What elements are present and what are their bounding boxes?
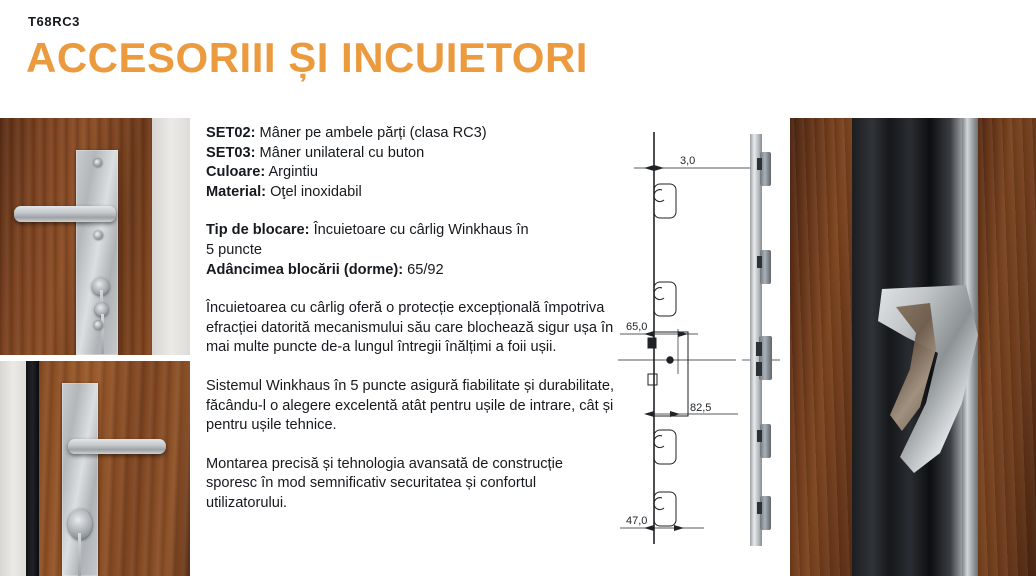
spec-value: Argintiu [268, 164, 317, 180]
door-lever-handle [14, 206, 116, 222]
left-photo-column [0, 118, 190, 576]
spec-value: Încuietoare cu cârlig Winkhaus în [314, 222, 529, 238]
spec-value: Mâner pe ambele părți (clasa RC3) [260, 125, 487, 141]
spec-label: Tip de blocare: [206, 222, 310, 238]
latch-bolt [648, 338, 656, 348]
wall-strip [0, 361, 26, 576]
spec-label: SET02: [206, 125, 255, 141]
lock-schematic-svg: 3,0 65,0 82,5 47,0 [618, 124, 790, 576]
spec-value: 65/92 [407, 262, 444, 278]
screw-icon [94, 159, 102, 167]
dim-label-65: 65,0 [626, 321, 647, 333]
page-title: ACCESORIII ȘI INCUIETORI [26, 34, 588, 82]
spec-row: Culoare: Argintiu [206, 163, 618, 183]
spec-list-primary: SET02: Mâner pe ambele părți (clasa RC3)… [206, 124, 618, 202]
lock-case [654, 332, 688, 416]
dim-label-top: 3,0 [680, 155, 695, 167]
product-code: T68RC3 [28, 14, 80, 29]
door-frame-gap [26, 361, 39, 576]
product-sheet-page: T68RC3 ACCESORIII ȘI INCUIETORI [0, 0, 1036, 576]
spec-row: Tip de blocare: Încuietoare cu cârlig Wi… [206, 221, 618, 241]
spec-row: SET02: Mâner pe ambele părți (clasa RC3) [206, 124, 618, 144]
paragraph-reliability: Sistemul Winkhaus în 5 puncte asigură fi… [206, 377, 618, 436]
screw-icon [94, 321, 103, 330]
door-frame-wood-left [790, 118, 852, 576]
lock-strip-photo [750, 134, 772, 546]
wall-strip [152, 118, 190, 355]
dim-label-82: 82,5 [690, 402, 711, 414]
technical-drawing: 3,0 65,0 82,5 47,0 [618, 124, 790, 576]
spec-row: Material: Oţel inoxidabil [206, 183, 618, 203]
follower-square [648, 374, 657, 385]
key-icon [78, 533, 81, 576]
door-frame-wood-right [978, 118, 1036, 576]
spec-label: Material: [206, 184, 266, 200]
spec-label: SET03: [206, 145, 255, 161]
spec-list-secondary: Tip de blocare: Încuietoare cu cârlig Wi… [206, 221, 618, 280]
spec-label: Adâncimea blocării (dorme): [206, 262, 403, 278]
spec-value: Mâner unilateral cu buton [260, 145, 425, 161]
hook-bolt-photo [790, 118, 1036, 576]
paragraph-installation: Montarea precisă și tehnologia avansată … [206, 455, 618, 514]
spec-label: Culoare: [206, 164, 265, 180]
door-handle-photo-bottom [0, 361, 190, 576]
door-handle-photo-top [0, 118, 190, 355]
key-blade [101, 314, 104, 354]
spec-value: Oţel inoxidabil [270, 184, 362, 200]
screw-icon [94, 231, 103, 240]
paragraph-protection: Încuietoarea cu cârlig oferă o protecție… [206, 299, 618, 358]
spec-row-continuation: 5 puncte [206, 241, 618, 261]
spec-value: 5 puncte [206, 242, 262, 258]
dim-label-47: 47,0 [626, 515, 647, 527]
spec-row: Adâncimea blocării (dorme): 65/92 [206, 261, 618, 281]
description-column: SET02: Mâner pe ambele părți (clasa RC3)… [206, 124, 618, 576]
page-header: T68RC3 ACCESORIII ȘI INCUIETORI [0, 0, 1036, 110]
door-lever-handle [68, 439, 166, 454]
spec-row: SET03: Mâner unilateral cu buton [206, 144, 618, 164]
